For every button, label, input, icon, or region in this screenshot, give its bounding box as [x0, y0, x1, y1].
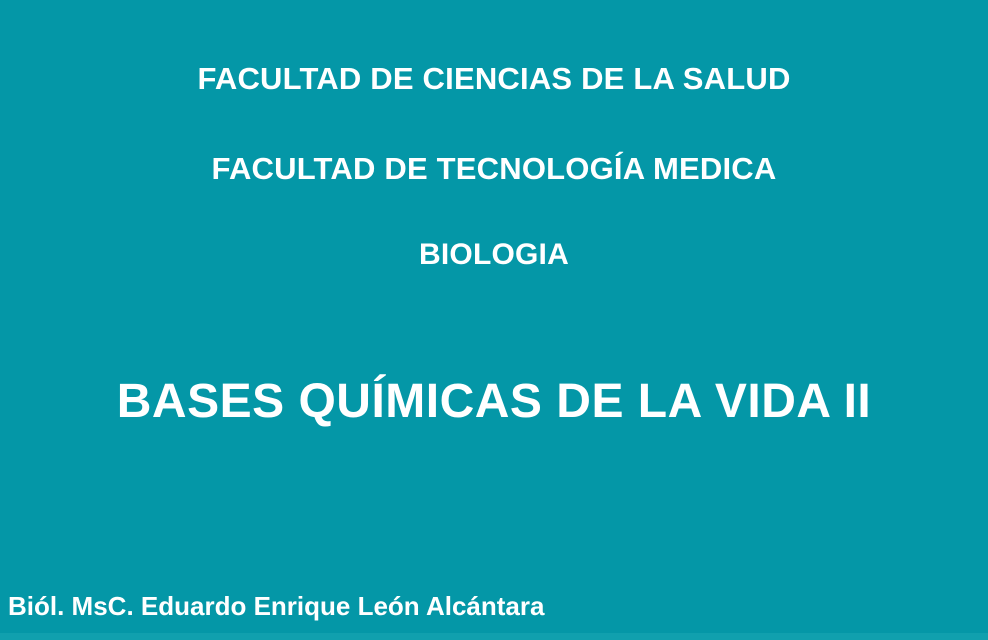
bottom-accent-band: [0, 633, 988, 640]
faculty-medtech-heading: FACULTAD DE TECNOLOGÍA MEDICA: [0, 150, 988, 188]
presentation-slide: FACULTAD DE CIENCIAS DE LA SALUD FACULTA…: [0, 0, 988, 640]
faculty-health-heading: FACULTAD DE CIENCIAS DE LA SALUD: [0, 60, 988, 98]
author-byline: Biól. MsC. Eduardo Enrique León Alcántar…: [8, 590, 544, 622]
slide-main-title: BASES QUÍMICAS DE LA VIDA II: [0, 374, 988, 430]
course-name-heading: BIOLOGIA: [0, 237, 988, 273]
